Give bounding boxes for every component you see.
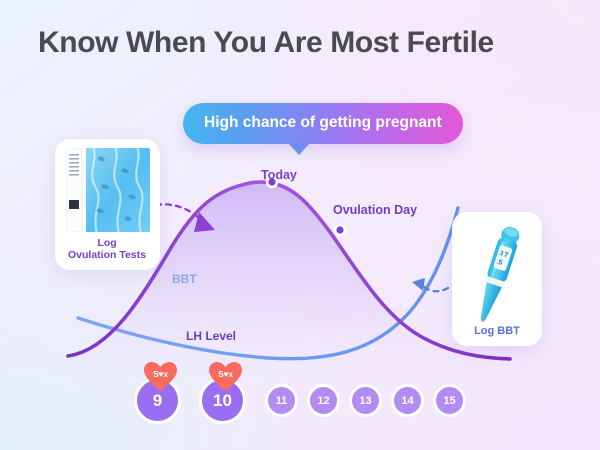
day-number: 15 xyxy=(443,395,455,407)
bbt-series-label: BBT xyxy=(172,272,197,286)
ovulation-day-label: Ovulation Day xyxy=(333,203,417,217)
fertility-infographic: Know When You Are Most Fertile xyxy=(0,0,600,450)
high-chance-banner[interactable]: High chance of getting pregnant xyxy=(183,103,463,144)
day-circle[interactable]: 14 xyxy=(391,384,424,417)
day-number: 12 xyxy=(317,395,329,407)
day-circle[interactable]: 12 xyxy=(307,384,340,417)
day-circle[interactable]: 13 xyxy=(349,384,382,417)
today-label: Today xyxy=(261,168,297,182)
log-bbt-label: Log BBT xyxy=(474,325,520,340)
ovulation-test-strip-icon xyxy=(66,148,150,232)
sex-badge[interactable]: S♥x xyxy=(208,361,243,392)
day-circle[interactable]: 11 xyxy=(265,384,298,417)
page-title: Know When You Are Most Fertile xyxy=(38,26,494,60)
sex-badge-label: S♥x xyxy=(153,369,168,379)
day-circle[interactable]: S♥x 10 xyxy=(199,377,246,424)
day-circle[interactable]: 15 xyxy=(433,384,466,417)
day-number: 11 xyxy=(276,395,288,407)
lh-level-series-label: LH Level xyxy=(186,329,236,343)
sex-badge[interactable]: S♥x xyxy=(143,361,178,392)
sex-badge-label: S♥x xyxy=(218,369,233,379)
banner-text: High chance of getting pregnant xyxy=(183,103,463,144)
log-ovulation-tests-label: Log Ovulation Tests xyxy=(63,237,146,262)
digital-thermometer-icon: 37 .5 xyxy=(462,221,532,325)
day-number: 10 xyxy=(213,391,232,411)
cycle-day-strip: S♥x 9 S♥x 10 11 12 13 14 15 xyxy=(0,362,600,424)
day-number: 13 xyxy=(359,395,371,407)
banner-tail-icon xyxy=(288,143,310,155)
day-number: 14 xyxy=(401,395,413,407)
ovulation-day-marker[interactable] xyxy=(334,224,346,236)
day-number: 9 xyxy=(153,391,162,411)
day-circle[interactable]: S♥x 9 xyxy=(134,377,181,424)
log-ovulation-tests-card[interactable]: Log Ovulation Tests xyxy=(55,139,160,270)
log-bbt-card[interactable]: 37 .5 Log BBT xyxy=(452,212,542,346)
